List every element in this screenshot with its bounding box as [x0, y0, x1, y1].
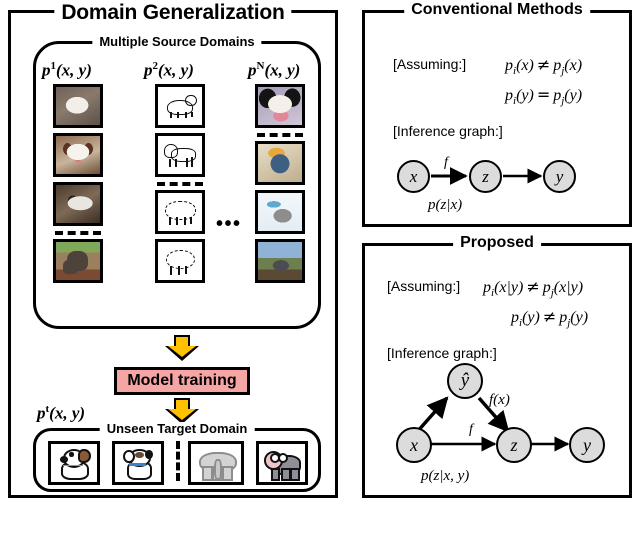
unseen-target-domain-group: Unseen Target Domain	[33, 428, 321, 492]
thumb-elephant-painting-2	[255, 190, 305, 234]
p-symbol: p	[248, 61, 257, 80]
target-domain-title: Unseen Target Domain	[100, 422, 255, 435]
factor-label: p(z|x)	[428, 197, 462, 214]
domain-label-n: pN(x, y)	[248, 60, 300, 81]
conventional-methods-panel: Conventional Methods [Assuming:] pi(x)≠p…	[362, 10, 632, 227]
edge-label-f-of-x: f(x)	[489, 392, 510, 409]
p-args: (x, y)	[158, 61, 194, 80]
thumb-dog-sketch-1	[155, 84, 205, 128]
domain-label-1: p1(x, y)	[42, 60, 92, 81]
edge-label-f: f	[444, 155, 448, 171]
thumb-elephant-sketch-2	[155, 239, 205, 283]
domain-label-2: p2(x, y)	[144, 60, 194, 81]
graph-node-y: y	[569, 427, 605, 463]
thumb-pomeranian-photo	[53, 84, 103, 128]
thumb-dalmatian-photo	[53, 182, 103, 226]
domain-separator-dashed	[157, 182, 203, 186]
p-symbol: p	[42, 61, 51, 80]
graph-node-x: x	[397, 160, 430, 193]
p-args: (x, y)	[56, 61, 92, 80]
factor-label: p(z|x, y)	[421, 468, 469, 485]
domain-generalization-panel: Domain Generalization Multiple Source Do…	[8, 10, 338, 498]
graph-node-y-hat: ŷ	[447, 363, 483, 399]
source-column-photo	[50, 84, 106, 288]
flow-arrow-down-1	[165, 335, 199, 361]
ellipsis-more-domains: •••	[216, 214, 242, 234]
target-domain-label: pt(x, y)	[37, 403, 85, 424]
proposed-graph-edges	[365, 246, 635, 501]
p-symbol: p	[144, 61, 153, 80]
thumb-border-collie-photo	[255, 84, 305, 128]
thumb-dog-sketch-2	[155, 133, 205, 177]
graph-node-z: z	[469, 160, 502, 193]
target-separator-dashed	[176, 441, 180, 481]
thumb-elephant-sketch-1	[155, 190, 205, 234]
domain-separator-dashed	[55, 231, 101, 235]
graph-node-x: x	[396, 427, 432, 463]
p-symbol: p	[37, 404, 46, 423]
thumb-cartoon-elephant-1	[188, 441, 244, 485]
source-domains-title: Multiple Source Domains	[92, 35, 261, 48]
thumb-elephant-photo	[53, 239, 103, 283]
thumb-cartoon-dog-1	[48, 441, 100, 485]
thumb-elephant-painting-3	[255, 239, 305, 283]
source-column-art	[252, 84, 308, 288]
thumb-cartoon-dog-2	[112, 441, 164, 485]
proposed-panel: Proposed [Assuming:] pi(x|y)≠pj(x|y) pi(…	[362, 243, 632, 498]
edge-label-f: f	[469, 422, 473, 438]
thumb-cartoon-elephant-2	[256, 441, 308, 485]
model-training-box: Model training	[114, 367, 250, 395]
p-args: (x, y)	[264, 61, 300, 80]
conventional-graph-edges	[365, 13, 635, 230]
thumb-elephant-painting-1	[255, 141, 305, 185]
p-args: (x, y)	[49, 404, 85, 423]
graph-node-z: z	[496, 427, 532, 463]
domain-separator-dashed	[257, 133, 303, 137]
source-column-sketch	[152, 84, 208, 288]
thumb-saint-bernard-photo	[53, 133, 103, 177]
multiple-source-domains-group: Multiple Source Domains p1(x, y) p2(x, y…	[33, 41, 321, 329]
page-title: Domain Generalization	[54, 2, 291, 23]
graph-node-y: y	[543, 160, 576, 193]
